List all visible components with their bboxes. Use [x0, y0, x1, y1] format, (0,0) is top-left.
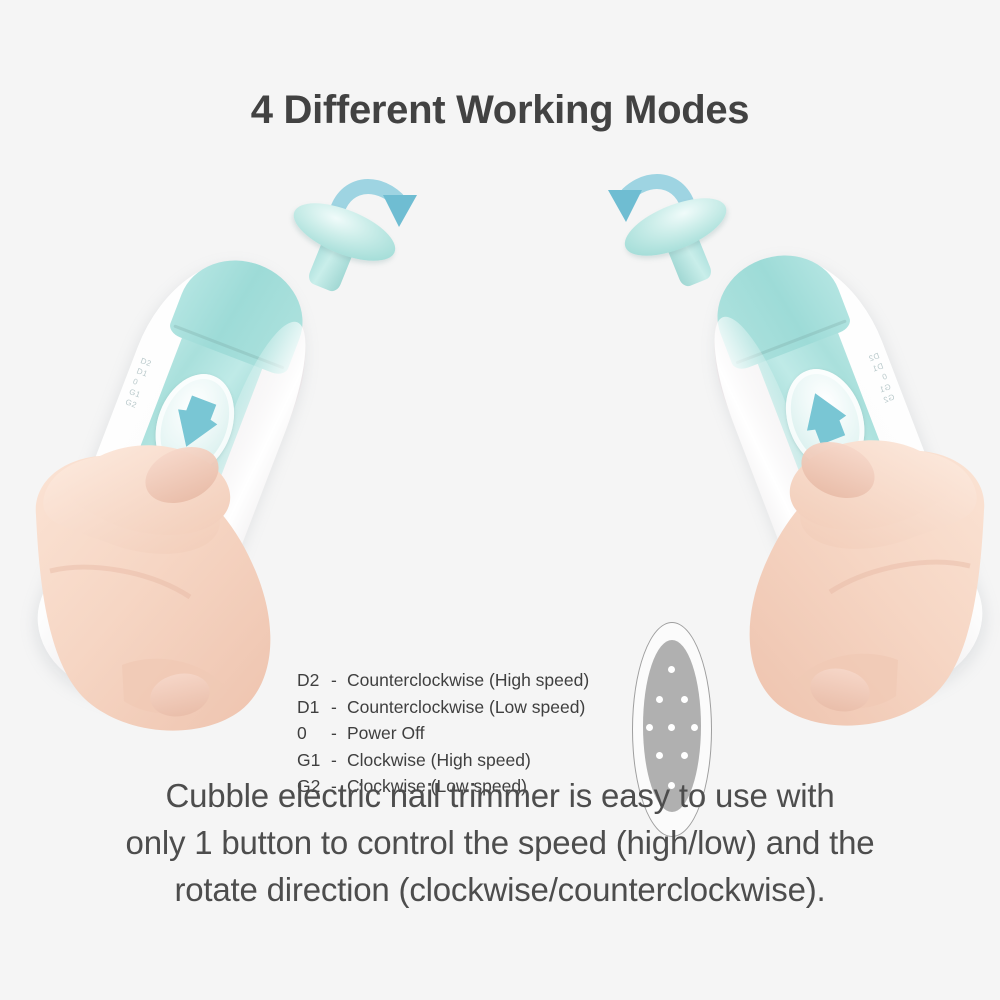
legend-label: Counterclockwise (Low speed) — [347, 694, 637, 721]
callout-dot — [668, 666, 675, 673]
product-description: Cubble electric nail trimmer is easy to … — [0, 772, 1000, 913]
left-device-illustration: D2 D1 0 G1 G2 bble — [30, 160, 460, 740]
callout-dot — [681, 696, 688, 703]
legend-dash: - — [331, 747, 347, 774]
legend-label: Counterclockwise (High speed) — [347, 667, 637, 694]
legend-label: Power Off — [347, 720, 637, 747]
legend-row: 0 - Power Off — [297, 720, 637, 747]
page-title: 4 Different Working Modes — [0, 88, 1000, 133]
legend-row: D2 - Counterclockwise (High speed) — [297, 667, 637, 694]
legend-code: 0 — [297, 720, 331, 747]
product-illustration: D2 D1 0 G1 G2 bble — [0, 150, 1000, 750]
legend-row: D1 - Counterclockwise (Low speed) — [297, 694, 637, 721]
legend-code: G1 — [297, 747, 331, 774]
caption-line-3: rotate direction (clockwise/counterclock… — [0, 866, 1000, 913]
product-feature-graphic: 4 Different Working Modes — [0, 0, 1000, 1000]
legend-code: D1 — [297, 694, 331, 721]
caption-line-2: only 1 button to control the speed (high… — [0, 819, 1000, 866]
callout-dot — [646, 724, 653, 731]
legend-dash: - — [331, 694, 347, 721]
callout-dot — [681, 752, 688, 759]
legend-code: D2 — [297, 667, 331, 694]
caption-line-1: Cubble electric nail trimmer is easy to … — [0, 772, 1000, 819]
callout-dot — [656, 696, 663, 703]
legend-label: Clockwise (High speed) — [347, 747, 637, 774]
legend-row: G1 - Clockwise (High speed) — [297, 747, 637, 774]
legend-dash: - — [331, 720, 347, 747]
callout-dot — [691, 724, 698, 731]
legend-dash: - — [331, 667, 347, 694]
callout-dot — [656, 752, 663, 759]
callout-dot — [668, 724, 675, 731]
